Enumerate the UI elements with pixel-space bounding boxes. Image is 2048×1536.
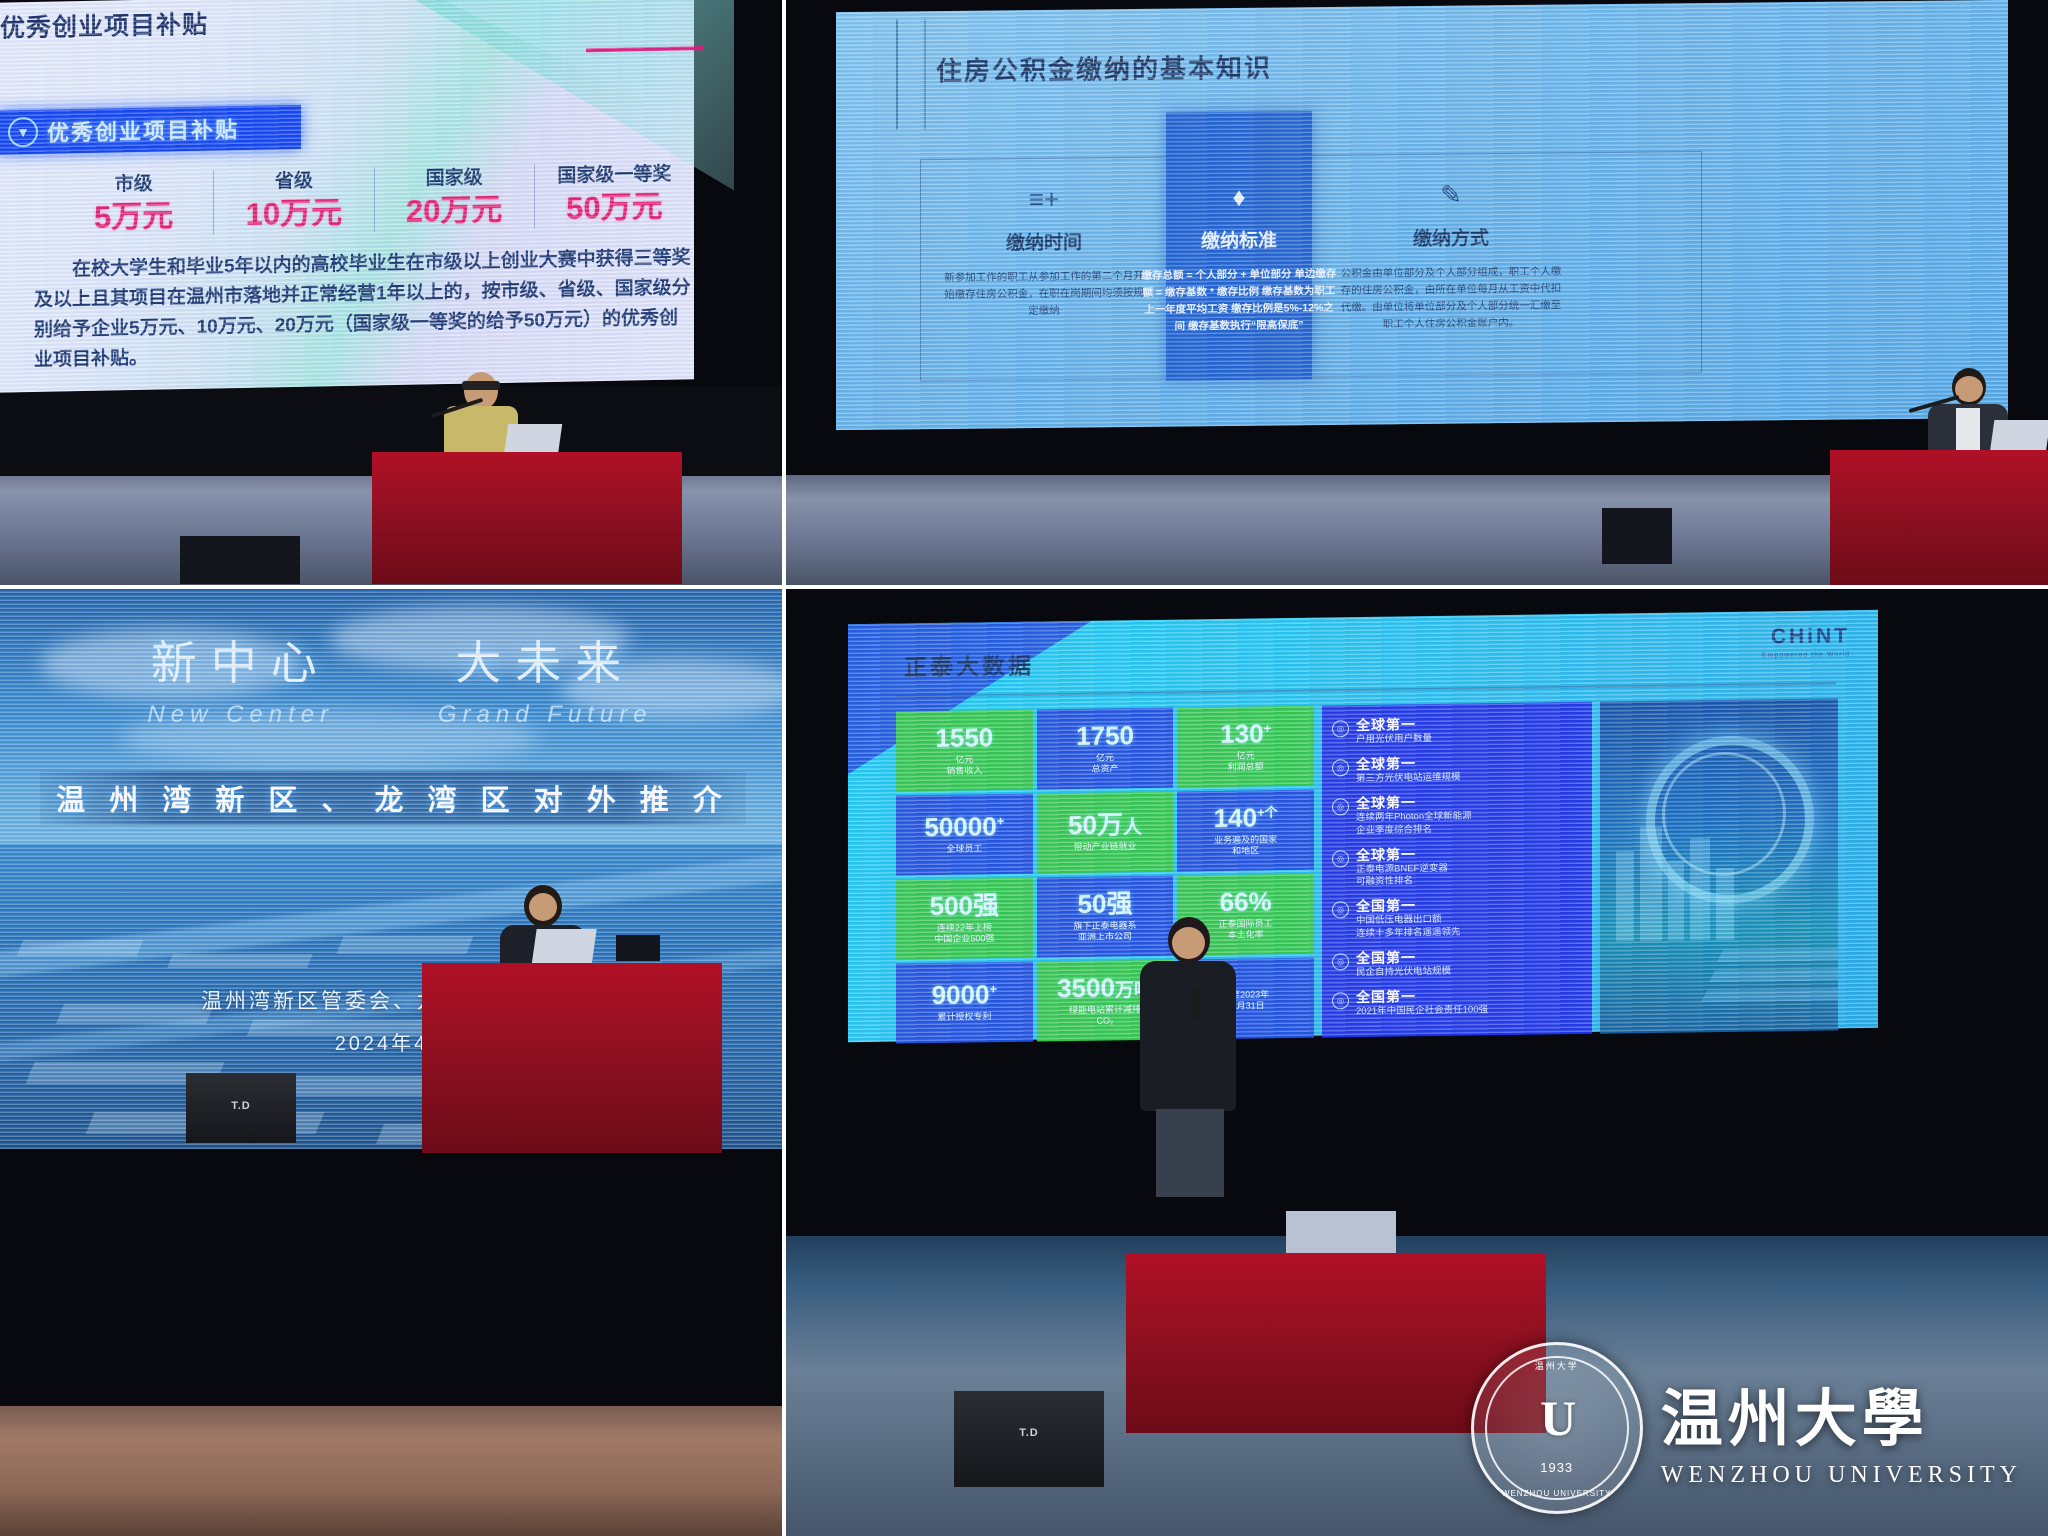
slide-heading: 优秀创业项目补贴: [0, 5, 208, 45]
amount-value: 50万元: [535, 187, 694, 229]
stat-tile: 9000+累计授权专利: [896, 962, 1033, 1044]
column-title: 缴纳方式: [1336, 222, 1566, 251]
achievement-desc: 正泰电源BNEF逆变器可融资性排名: [1356, 862, 1448, 889]
university-name-cn: 温州大學: [1661, 1368, 2022, 1458]
chint-slogan: Empowered the World: [1762, 651, 1850, 659]
stat-caption: 连续22年上榜中国企业500强: [934, 922, 994, 945]
speaker-brand-label: T.D: [1019, 1427, 1039, 1439]
stage-prop: [180, 536, 300, 584]
stat-tile: 50000+全球员工: [896, 794, 1033, 876]
medal-icon: ◎: [1332, 953, 1349, 970]
slide-title-2: 住房公积金缴纳的基本知识: [936, 48, 1272, 89]
achievement-rank: 全球第一: [1356, 845, 1448, 862]
stat-caption: 业务遍及的国家和地区: [1214, 834, 1277, 857]
stat-tile: 1750亿元总资产: [1037, 708, 1174, 790]
wenzhou-university-logo: 温州大学 U 1933 WENZHOU UNIVERSITY 温州大學 WENZ…: [1471, 1342, 2022, 1514]
stat-caption: 亿元总资产: [1091, 752, 1118, 775]
slide-title-4: 正泰大数据: [904, 647, 1034, 683]
slide-headline-3: 新中心 New Center 大未来 Grand Future: [0, 627, 786, 729]
stat-value: 50万人: [1068, 811, 1142, 838]
level-label: 省级: [214, 167, 373, 196]
university-name-block: 温州大學 WENZHOU UNIVERSITY: [1661, 1368, 2022, 1489]
slide-subtitle-band: 温 州 湾 新 区 、 龙 湾 区 对 外 推 介: [40, 771, 746, 825]
subsidy-table: 市级 5万元 省级 10万元 国家级 20万元 国家级一等奖 50万元: [54, 161, 694, 238]
stat-caption: 旗下正泰电器系亚洲上市公司: [1073, 920, 1136, 943]
university-seal-icon: 温州大学 U 1933 WENZHOU UNIVERSITY: [1471, 1342, 1643, 1514]
university-name-en: WENZHOU UNIVERSITY: [1661, 1462, 2022, 1489]
stat-tile: 130+亿元利润总额: [1177, 706, 1314, 788]
stat-caption: 亿元利润总额: [1228, 750, 1264, 773]
level-label: 国家级一等奖: [535, 161, 694, 190]
medal-icon: ◎: [1332, 992, 1349, 1009]
achievement-item: ◎全国第一2021年中国民企社会责任100强: [1332, 986, 1582, 1019]
chint-brand: CHiNT Empowered the World: [1762, 624, 1850, 659]
band-text: 温 州 湾 新 区 、 龙 湾 区 对 外 推 介: [56, 777, 730, 819]
stat-tile: 140+个业务遍及的国家和地区: [1177, 790, 1314, 872]
headline-right-en: Grand Future: [395, 701, 695, 729]
stat-value: 66%: [1220, 888, 1272, 915]
table-column: 省级 10万元: [213, 167, 373, 234]
seal-arc-top: 温州大学: [1474, 1359, 1640, 1372]
edit-square-icon: ✎: [1336, 180, 1566, 208]
slide-body-text: 在校大学生和毕业5年以内的高校毕业生在市级以上创业大赛中获得三等奖及以上且其项目…: [34, 243, 694, 376]
stat-caption: 带动产业链就业: [1073, 842, 1136, 854]
panel-entrepreneurship-subsidy: 优秀创业项目补贴 ▼ 优秀创业项目补贴 市级 5万元 省级 10万元 国家级 2…: [0, 0, 786, 589]
achievement-desc: 2021年中国民企社会责任100强: [1356, 1004, 1488, 1019]
achievement-item: ◎全球第一户用光伏用户数量: [1332, 714, 1582, 747]
download-circle-icon: ▼: [8, 117, 38, 148]
laptop-3: [531, 929, 596, 967]
medal-icon: ◎: [1332, 759, 1349, 776]
seal-monogram: U: [1540, 1389, 1573, 1447]
achievement-item: ◎全球第一连续两年Photon全球新能源企业季度综合排名: [1332, 792, 1582, 838]
table-column: 市级 5万元: [54, 171, 213, 238]
stat-caption: 全球员工: [946, 844, 982, 856]
laptop-2: [1990, 420, 2048, 454]
stat-value: 9000+: [932, 981, 997, 1008]
stat-caption: 累计授权专利: [937, 1012, 991, 1024]
headline-right-cn: 大未来: [455, 637, 635, 689]
achievement-rank: 全球第一: [1356, 716, 1432, 733]
achievement-desc: 连续两年Photon全球新能源企业季度综合排名: [1356, 810, 1472, 837]
medal-icon: ◎: [1332, 901, 1349, 918]
stat-value: 1750: [1076, 722, 1134, 749]
amount-value: 10万元: [214, 193, 373, 235]
column-payment-method: ✎ 缴纳方式 公积金由单位部分及个人部分组成，职工个人缴存的住房公积金，由所在单…: [1336, 180, 1566, 333]
presenter-4: [1134, 917, 1242, 1197]
stat-tile: 50万人带动产业链就业: [1037, 792, 1174, 874]
subsidy-badge: ▼ 优秀创业项目补贴: [0, 105, 301, 155]
monitor-3: [616, 935, 660, 961]
column-payment-time: ≡+ 缴纳时间 新参加工作的职工从参加工作的第二个月开始缴存住房公积金，在职在岗…: [944, 185, 1144, 321]
seal-arc-bottom: WENZHOU UNIVERSITY: [1474, 1489, 1640, 1498]
achievement-rank: 全球第一: [1356, 793, 1472, 811]
smart-city-photo: [1600, 698, 1838, 1033]
stat-value: 50000+: [924, 813, 1004, 840]
presenter-table-2: [1830, 450, 2048, 586]
column-payment-standard: ♦ 缴纳标准 缴存总额 = 个人部分 + 单位部分 单边缴存额 = 缴存基数 *…: [1139, 183, 1339, 336]
stage-monitor-speaker: T.D: [186, 1073, 296, 1143]
stat-tile: 500强连续22年上榜中国企业500强: [896, 878, 1033, 960]
achievement-item: ◎全球第一第三方光伏电站运维规模: [1332, 753, 1582, 786]
panel-wenzhou-bay: 新中心 New Center 大未来 Grand Future 温 州 湾 新 …: [0, 589, 786, 1536]
stage-monitor-speaker: T.D: [954, 1391, 1104, 1487]
column-title: 缴纳时间: [944, 227, 1144, 256]
projector-screen-2: 住房公积金缴纳的基本知识 ≡+ 缴纳时间 新参加工作的职工从参加工作的第二个月开…: [836, 0, 2008, 430]
achievement-list: ◎全球第一户用光伏用户数量◎全球第一第三方光伏电站运维规模◎全球第一连续两年Ph…: [1322, 702, 1592, 1038]
stat-value: 130+: [1220, 720, 1271, 747]
achievement-rank: 全国第一: [1356, 897, 1461, 915]
projector-screen-1: 优秀创业项目补贴 ▼ 优秀创业项目补贴 市级 5万元 省级 10万元 国家级 2…: [0, 0, 694, 393]
achievement-desc: 户用光伏用户数量: [1356, 733, 1432, 747]
amount-value: 5万元: [54, 196, 213, 238]
achievement-rank: 全国第一: [1356, 987, 1488, 1005]
level-label: 国家级: [375, 164, 534, 193]
stage-prop: [1602, 508, 1672, 564]
presenter-table-3: [422, 963, 722, 1153]
medal-icon: ◎: [1332, 850, 1349, 867]
stat-value: 140+个: [1214, 804, 1278, 831]
amount-value: 20万元: [375, 190, 534, 232]
column-text: 缴存总额 = 个人部分 + 单位部分 单边缴存额 = 缴存基数 * 缴存比例 缴…: [1139, 266, 1339, 336]
stat-caption: 绿能电站累计减排CO₂: [1069, 1004, 1141, 1028]
screenshot-grid: 优秀创业项目补贴 ▼ 优秀创业项目补贴 市级 5万元 省级 10万元 国家级 2…: [0, 0, 2048, 1536]
medal-icon: ◎: [1332, 798, 1349, 815]
stat-value: 500强: [930, 892, 999, 919]
achievement-desc: 民企自持光伏电站规模: [1356, 966, 1451, 980]
headline-left-en: New Center: [91, 701, 391, 729]
headline-left-cn: 新中心: [151, 637, 331, 689]
achievement-item: ◎全国第一中国低压电器出口额连续十多年排名遥遥领先: [1332, 895, 1582, 941]
projector-screen-4: 正泰大数据 CHiNT Empowered the World 1550亿元销售…: [848, 610, 1878, 1042]
title-rule: [896, 682, 1836, 697]
medal-icon: ◎: [1332, 720, 1349, 737]
list-plus-icon: ≡+: [944, 185, 1144, 213]
presenter-table-1: [372, 452, 682, 584]
column-text: 公积金由单位部分及个人部分组成，职工个人缴存的住房公积金，由所在单位每月从工资中…: [1336, 263, 1566, 333]
stat-value: 1550: [935, 724, 993, 751]
laptop-4: [1286, 1211, 1396, 1255]
achievement-desc: 中国低压电器出口额连续十多年排名遥遥领先: [1356, 914, 1461, 941]
stat-tile: 1550亿元销售收入: [896, 710, 1033, 792]
column-title: 缴纳标准: [1139, 225, 1339, 254]
achievement-rank: 全球第一: [1356, 755, 1461, 773]
layers-icon: ♦: [1139, 183, 1339, 211]
achievement-item: ◎全国第一民企自持光伏电站规模: [1332, 947, 1582, 980]
decor-vertical-lines: [896, 19, 926, 129]
stat-value: 50强: [1078, 890, 1133, 917]
subsidy-badge-label: 优秀创业项目补贴: [47, 112, 239, 148]
table-column: 国家级 20万元: [374, 164, 534, 231]
achievement-desc: 第三方光伏电站运维规模: [1356, 772, 1461, 786]
achievement-item: ◎全球第一正泰电源BNEF逆变器可融资性排名: [1332, 843, 1582, 889]
level-label: 市级: [54, 171, 213, 200]
achievement-rank: 全国第一: [1356, 949, 1451, 966]
table-column: 国家级一等奖 50万元: [534, 161, 694, 228]
big-data-tile-grid: 1550亿元销售收入1750亿元总资产130+亿元利润总额50000+全球员工5…: [896, 706, 1314, 1044]
column-text: 新参加工作的职工从参加工作的第二个月开始缴存住房公积金，在职在岗期间均须按规定缴…: [944, 268, 1144, 321]
speaker-brand-label: T.D: [231, 1100, 251, 1112]
stat-caption: 亿元销售收入: [946, 754, 982, 777]
chint-logo-text: CHiNT: [1762, 624, 1850, 649]
panel-housing-fund: 住房公积金缴纳的基本知识 ≡+ 缴纳时间 新参加工作的职工从参加工作的第二个月开…: [786, 0, 2048, 589]
seal-year: 1933: [1540, 1460, 1573, 1475]
